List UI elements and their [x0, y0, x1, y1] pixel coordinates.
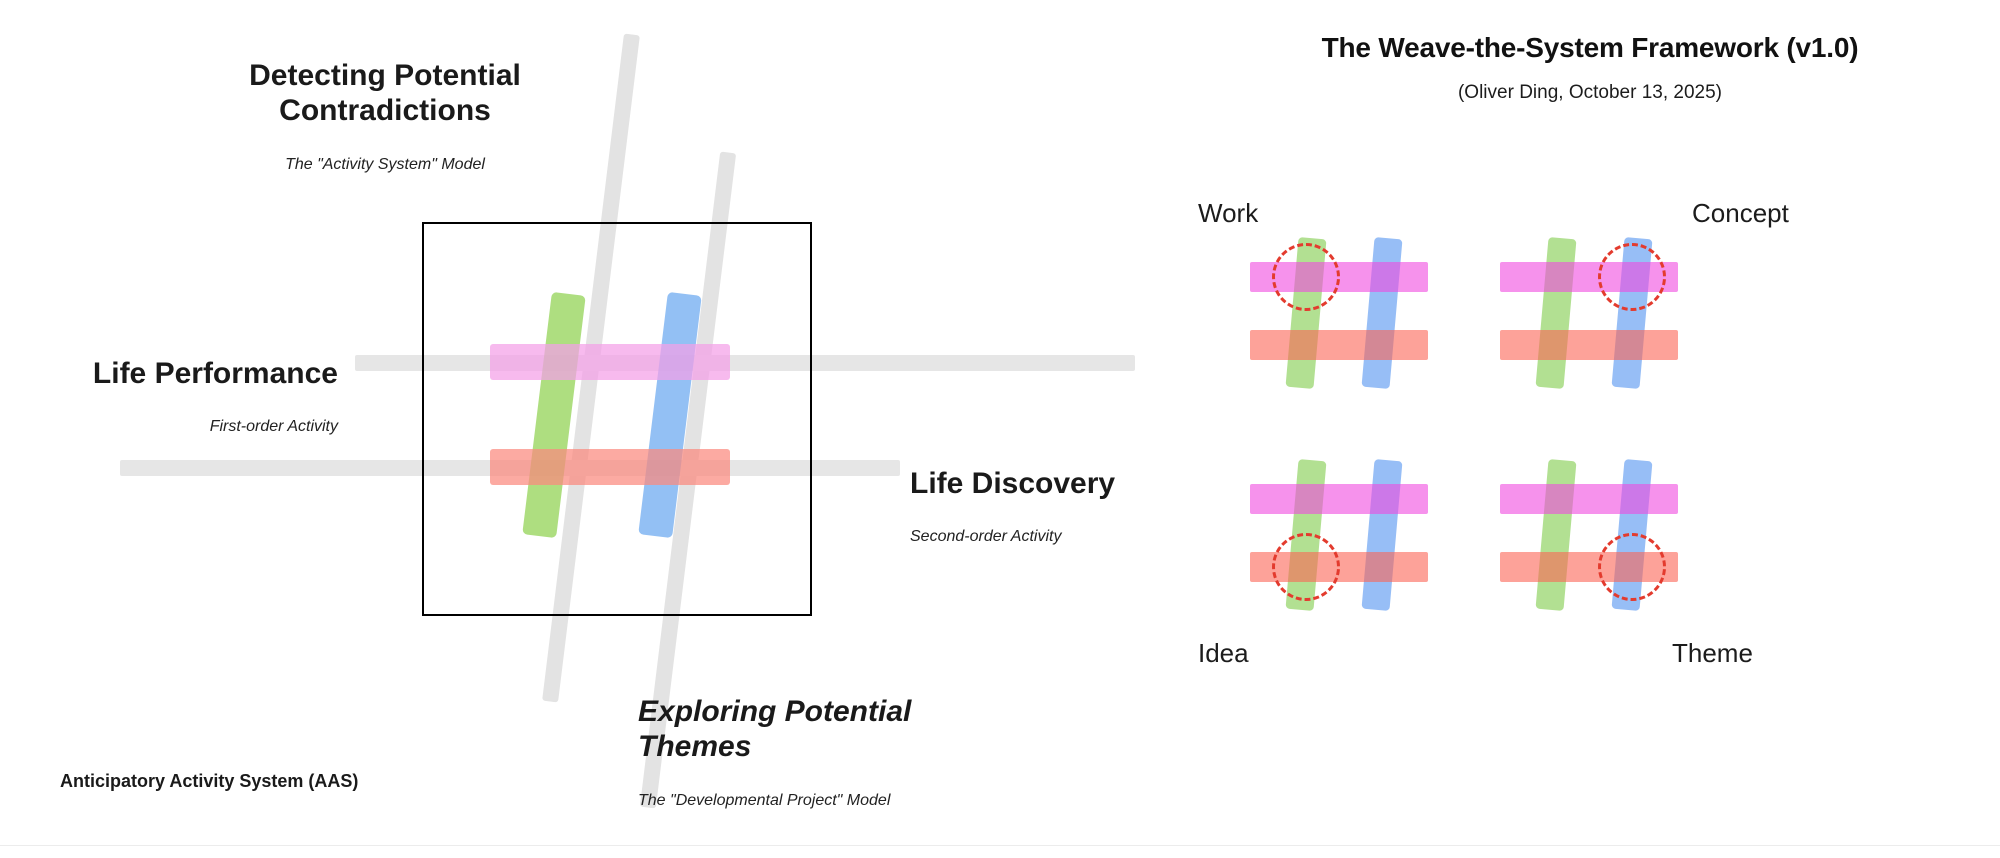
- activity-system-frame: [422, 222, 812, 616]
- quadrant-label-concept: Concept: [1692, 198, 1789, 229]
- highlight-circle-icon: [1598, 243, 1666, 311]
- quadrant-label-work: Work: [1198, 198, 1258, 229]
- highlight-circle-icon: [1272, 533, 1340, 601]
- framework-title: The Weave-the-System Framework (v1.0): [1180, 32, 2000, 64]
- label-life-performance-title: Life Performance: [8, 356, 338, 391]
- quadrant-grid: Work Concept: [1180, 228, 2000, 648]
- bottom-divider: [0, 845, 2000, 846]
- quadrant-idea: Idea: [1240, 450, 1490, 650]
- highlight-circle-icon: [1272, 243, 1340, 311]
- mini-band-vertical-blue: [1362, 237, 1403, 389]
- label-exploring-themes-subtitle: The "Developmental Project" Model: [638, 792, 978, 810]
- mini-hash-theme: [1500, 460, 1700, 630]
- framework-subtitle: (Oliver Ding, October 13, 2025): [1180, 82, 2000, 104]
- mini-band-vertical-green: [1536, 237, 1577, 389]
- label-life-performance-subtitle: First-order Activity: [8, 418, 338, 436]
- label-exploring-themes: Exploring Potential Themes The "Developm…: [638, 676, 978, 828]
- mini-hash-concept: [1500, 238, 1700, 408]
- label-detecting-contradictions: Detecting Potential Contradictions The "…: [210, 40, 560, 192]
- label-detecting-contradictions-title: Detecting Potential Contradictions: [210, 58, 560, 129]
- quadrant-label-theme: Theme: [1672, 638, 1753, 669]
- mini-band-horizontal-pink: [1500, 484, 1678, 514]
- mini-band-horizontal-salmon: [1250, 330, 1428, 360]
- quadrant-work: Work: [1240, 228, 1490, 428]
- label-life-performance: Life Performance First-order Activity: [8, 338, 338, 454]
- mini-hash-idea: [1250, 460, 1450, 630]
- mini-hash-work: [1250, 238, 1450, 408]
- label-anticipatory-activity-system: Anticipatory Activity System (AAS): [60, 771, 358, 792]
- mini-band-vertical-green: [1536, 459, 1577, 611]
- quadrant-theme: Theme: [1490, 450, 1740, 650]
- band-horizontal-salmon: [490, 449, 730, 485]
- quadrant-concept: Concept: [1490, 228, 1740, 428]
- mini-band-horizontal-salmon: [1500, 330, 1678, 360]
- slide-canvas: Detecting Potential Contradictions The "…: [0, 0, 2000, 858]
- quadrant-label-idea: Idea: [1198, 638, 1249, 669]
- mini-band-vertical-blue: [1362, 459, 1403, 611]
- weave-the-system-framework: The Weave-the-System Framework (v1.0) (O…: [1180, 0, 2000, 858]
- mini-band-horizontal-pink: [1250, 484, 1428, 514]
- band-horizontal-pink: [490, 344, 730, 380]
- label-detecting-contradictions-subtitle: The "Activity System" Model: [210, 156, 560, 174]
- activity-system-diagram: Detecting Potential Contradictions The "…: [0, 0, 1180, 858]
- highlight-circle-icon: [1598, 533, 1666, 601]
- label-exploring-themes-title: Exploring Potential Themes: [638, 694, 978, 765]
